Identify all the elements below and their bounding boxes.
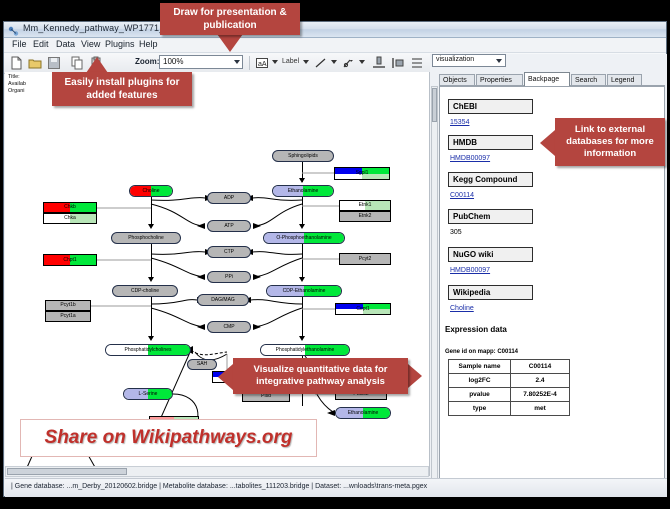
node-label: Phosphatidylethanolamine	[276, 348, 335, 353]
expression-value: 2.4	[511, 374, 570, 388]
save-icon[interactable]	[47, 56, 61, 70]
gene-node-chka[interactable]: Chka	[43, 213, 97, 224]
pathway-title-label: Title:	[8, 74, 26, 81]
callout-visualize: Visualize quantitative data for integrat…	[233, 358, 408, 394]
edge	[302, 244, 303, 278]
metabolite-node-adp[interactable]: ADP	[207, 192, 251, 204]
metabolite-node-ppi[interactable]: PPi	[207, 271, 251, 283]
metabolite-node-ctp[interactable]: CTP	[207, 246, 251, 258]
expression-key: pvalue	[449, 388, 511, 402]
metabolite-node-dag-mag[interactable]: DAG/MAG	[197, 294, 249, 306]
metabolite-node-phosphatidylethanolamine[interactable]: Phosphatidylethanolamine	[260, 344, 350, 356]
gene-node-pcyt1b[interactable]: Pcyt1b	[45, 300, 91, 311]
callout-links-tail	[540, 130, 555, 156]
callout-visualize-tail-left	[218, 364, 233, 390]
gene-node-pcyt2[interactable]: Pcyt2	[339, 253, 391, 265]
metabolite-node-phosphatidylcholines[interactable]: Phosphatidylcholines	[105, 344, 191, 356]
node-label: CDP-choline	[131, 289, 159, 294]
menu-file[interactable]: File	[10, 39, 29, 49]
interaction-icon[interactable]	[342, 56, 356, 70]
arrowhead	[299, 224, 305, 229]
expression-table: Sample nameC00114log2FC2.4pvalue7.80252E…	[448, 359, 570, 416]
arrowhead	[299, 336, 305, 341]
node-label: Pisd	[261, 394, 271, 399]
expression-table-row: typemet	[449, 402, 570, 416]
node-label: Choline	[143, 189, 160, 194]
node-label: Ethanolamine	[348, 411, 379, 416]
metabolite-node-l-serine[interactable]: L-Serine	[123, 388, 173, 400]
metabolite-node-cdp-choline[interactable]: CDP-choline	[112, 285, 178, 297]
edge	[302, 297, 303, 337]
expression-key: log2FC	[449, 374, 511, 388]
pathway-organism-label: Organi	[8, 88, 26, 95]
metabolite-node-cdp-ethanolamine[interactable]: CDP-Ethanolamine	[266, 285, 342, 297]
node-label: Cept1	[356, 307, 369, 312]
gene-node-chpt1[interactable]: Chpt1	[43, 254, 97, 266]
metabolite-node-sphingolipids[interactable]: Sphingolipids	[272, 150, 334, 162]
section-header-wikipedia: Wikipedia	[448, 285, 533, 300]
gene-node-sgpl1[interactable]: Sgpl1	[334, 167, 390, 180]
scroll-thumb[interactable]	[432, 88, 437, 122]
expression-table-row: log2FC2.4	[449, 374, 570, 388]
open-folder-icon[interactable]	[28, 56, 42, 70]
interaction-dropdown-icon[interactable]	[359, 60, 365, 64]
callout-plugins-tail	[86, 57, 108, 73]
node-label: Ethanolamine	[288, 189, 319, 194]
gene-node-cept1[interactable]: Cept1	[335, 303, 391, 315]
node-label: Chkb	[64, 205, 76, 210]
node-label: CDP-Ethanolamine	[283, 289, 326, 294]
pathvisio-icon	[8, 24, 19, 35]
callout-draw: Draw for presentation & publication	[160, 3, 300, 35]
node-label: Etnk2	[359, 214, 372, 219]
node-label: Chka	[64, 216, 76, 221]
gene-node-chkb[interactable]: Chkb	[43, 202, 97, 213]
node-label: Sgpl1	[356, 171, 369, 176]
line-dropdown-icon[interactable]	[331, 60, 337, 64]
section-header-kegg: Kegg Compound	[448, 172, 533, 187]
metabolite-node-sah[interactable]: SAH	[187, 359, 217, 370]
node-label: Sphingolipids	[288, 154, 318, 159]
callout-links: Link to external databases for more info…	[555, 118, 665, 166]
node-label: Chpt1	[63, 258, 76, 263]
gene-id-on-mapp: Gene id on mapp: C00114	[445, 349, 518, 355]
node-label: Etnk1	[359, 203, 372, 208]
pubchem-value: 305	[450, 229, 462, 236]
tab-backpage[interactable]: Backpage	[524, 72, 570, 86]
node-label: Phosphocholine	[128, 236, 164, 241]
label-tool-label: Label	[282, 58, 299, 65]
text-box-icon[interactable]: aA	[255, 56, 269, 70]
node-label: Pcyt2	[359, 257, 372, 262]
align-bottom-icon[interactable]	[372, 56, 386, 70]
node-label: ATP	[224, 224, 233, 229]
expression-key: type	[449, 402, 511, 416]
zoom-label: Zoom:	[135, 57, 159, 66]
node-label: Phosphatidylcholines	[125, 348, 172, 353]
expression-value: met	[511, 402, 570, 416]
node-label: L-Serine	[139, 392, 158, 397]
gene-node-etnk1[interactable]: Etnk1	[339, 200, 391, 211]
edge	[151, 297, 152, 337]
hmdb-link[interactable]: HMDB00097	[450, 155, 490, 162]
node-label: PPi	[225, 275, 233, 280]
callout-plugins: Easily install plugins for added feature…	[52, 72, 192, 106]
toolbar-separator	[249, 56, 250, 70]
arrowhead	[299, 178, 305, 183]
screenshot-root: Mm_Kennedy_pathway_WP1771_45176.gpml Fil…	[0, 0, 670, 509]
line-icon[interactable]	[314, 56, 328, 70]
node-label: CTP	[224, 250, 234, 255]
zoom-combo[interactable]: 100%	[159, 55, 243, 69]
gene-node-pcyt1a[interactable]: Pcyt1a	[45, 311, 91, 322]
pathway-availability-label: Availab	[8, 81, 26, 88]
section-header-chebi: ChEBI	[448, 99, 533, 114]
new-file-icon[interactable]	[9, 56, 23, 70]
section-header-hmdb: HMDB	[448, 135, 533, 150]
backpage-vscrollbar[interactable]	[431, 86, 438, 490]
status-text: | Gene database: ...m_Derby_20120602.bri…	[11, 483, 427, 490]
callout-share: Share on Wikipathways.org	[20, 419, 317, 457]
menu-edit[interactable]: Edit	[31, 39, 51, 49]
metabolite-node-ethanolamine[interactable]: Ethanolamine	[272, 185, 334, 197]
chevron-down-icon	[496, 59, 502, 63]
edge	[151, 197, 152, 225]
status-bar: | Gene database: ...m_Derby_20120602.bri…	[5, 478, 667, 497]
node-label: DAG/MAG	[211, 298, 235, 303]
expression-table-row: pvalue7.80252E-4	[449, 388, 570, 402]
callout-visualize-tail	[408, 364, 422, 388]
svg-text:aA: aA	[258, 61, 267, 68]
arrowhead	[148, 277, 154, 282]
share-text: Share on Wikipathways.org	[45, 427, 293, 449]
node-label: O-Phosphoethanolamine	[276, 236, 331, 241]
expression-key: Sample name	[449, 360, 511, 374]
node-label: Pcyt1b	[60, 303, 75, 308]
canvas-hscrollbar[interactable]	[5, 466, 429, 477]
metabolite-node-ethanolamine[interactable]: Ethanolamine	[335, 407, 391, 419]
title-bar: Mm_Kennedy_pathway_WP1771_45176.gpml	[4, 22, 666, 38]
menu-bar: File Edit Data View Plugins Help	[4, 38, 666, 53]
arrowhead	[299, 277, 305, 282]
pathway-canvas[interactable]: Title: Availab Organi	[5, 72, 430, 476]
copy-icon[interactable]	[70, 56, 84, 70]
chebi-link[interactable]: 15354	[450, 119, 469, 126]
label-dropdown-icon[interactable]	[303, 60, 309, 64]
wikipedia-link[interactable]: Choline	[450, 305, 474, 312]
section-header-pubchem: PubChem	[448, 209, 533, 224]
chevron-down-icon	[234, 60, 240, 64]
arrowhead	[148, 336, 154, 341]
gene-node-etnk2[interactable]: Etnk2	[339, 211, 391, 222]
node-label: CMP	[223, 325, 234, 330]
text-dropdown-icon[interactable]	[272, 60, 278, 64]
arrowhead	[148, 224, 154, 229]
node-label: ADP	[224, 196, 234, 201]
node-label: Pcyt1a	[60, 314, 75, 319]
expression-value: C00114	[511, 360, 570, 374]
scroll-thumb[interactable]	[7, 468, 127, 475]
metabolite-node-phosphocholine[interactable]: Phosphocholine	[111, 232, 181, 244]
node-label: SAH	[197, 362, 207, 367]
metabolite-node-atp[interactable]: ATP	[207, 220, 251, 232]
backpage-tabstrip: Objects Properties Backpage Search Legen…	[439, 72, 665, 86]
expression-data-title: Expression data	[445, 325, 507, 334]
menu-plugins[interactable]: Plugins	[103, 39, 137, 49]
edge	[151, 244, 152, 278]
metabolite-node-choline[interactable]: Choline	[129, 185, 173, 197]
expression-value: 7.80252E-4	[511, 388, 570, 402]
metabolite-node-o-phosphoethanolamine[interactable]: O-Phosphoethanolamine	[263, 232, 345, 244]
kegg-link[interactable]: C00114	[450, 192, 474, 199]
metabolite-node-cmp[interactable]: CMP	[207, 321, 251, 333]
pathway-info: Title: Availab Organi	[8, 74, 26, 95]
visualization-combo-value: visualization	[436, 56, 474, 63]
distribute-vertical-icon[interactable]	[410, 56, 424, 70]
align-left-icon[interactable]	[391, 56, 405, 70]
nugo-link[interactable]: HMDB00097	[450, 267, 490, 274]
edge	[302, 197, 303, 225]
section-header-nugo: NuGO wiki	[448, 247, 533, 262]
zoom-value: 100%	[163, 57, 183, 66]
callout-draw-tail	[217, 34, 243, 52]
expression-table-row: Sample nameC00114	[449, 360, 570, 374]
menu-data[interactable]: Data	[54, 39, 77, 49]
menu-view[interactable]: View	[79, 39, 102, 49]
visualization-combo[interactable]: visualization	[432, 54, 506, 67]
menu-help[interactable]: Help	[137, 39, 160, 49]
